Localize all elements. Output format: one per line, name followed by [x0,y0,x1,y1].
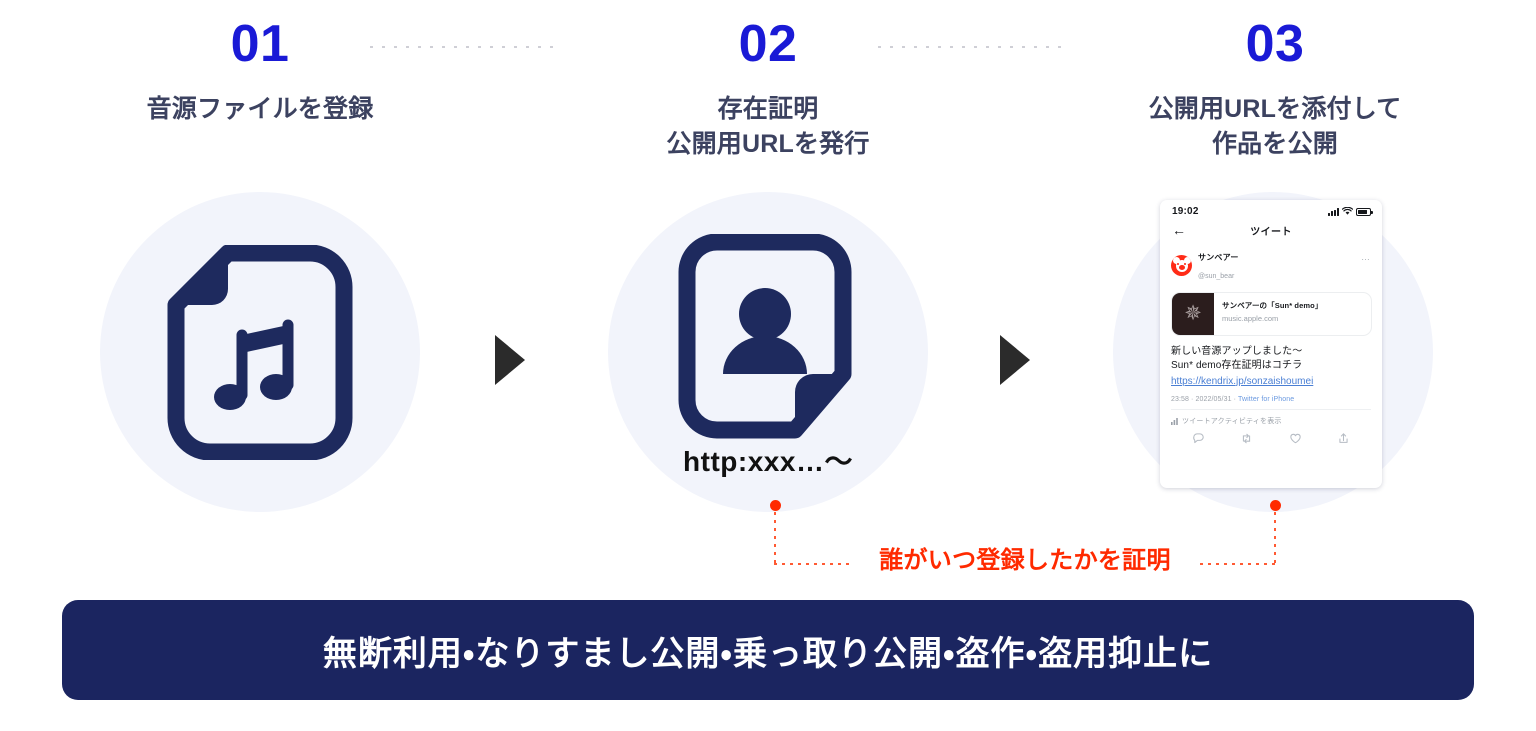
link-card-domain: music.apple.com [1222,314,1322,323]
step-02-url-caption: http:xxx…〜 [608,440,928,480]
tweet-text-line-2: Sun* demo存在証明はコチラ [1171,359,1371,374]
wifi-icon [1342,207,1353,216]
analytics-icon [1171,418,1178,425]
annotation-dot-right [1270,500,1281,511]
arrow-icon-1 [495,335,525,385]
annotation-line-right-horizontal [1200,563,1276,565]
reply-icon[interactable] [1192,432,1205,445]
activity-label: ツイートアクティビティを表示 [1182,416,1282,426]
step-number-03: 03 [1060,18,1490,70]
tweet-author: サンベアー @sun_bear … [1160,245,1382,290]
step-number-02: 02 [553,18,983,70]
battery-icon [1356,208,1371,216]
step-title-line: 音源ファイルを登録 [45,92,475,127]
step-title-line: 公開用URLを発行 [553,127,983,162]
infographic-canvas: 01 音源ファイルを登録 02 存在証明 公開用URLを発行 [0,0,1536,731]
step-title-line: 公開用URLを添付して [1060,92,1490,127]
phone-status-bar: 19:02 [1160,200,1382,219]
step-title-line: 作品を公開 [1060,127,1490,162]
annotation-line-left-vertical [774,512,776,564]
phone-tweet-mockup: 19:02 ← ツイート サンベアー @sun_bear [1160,200,1382,488]
status-icons [1328,207,1371,216]
asterisk-artwork-icon: ✵ [1184,303,1202,324]
tweet-actions [1160,426,1382,453]
avatar[interactable] [1171,255,1192,276]
phone-nav-bar: ← ツイート [1160,219,1382,245]
link-card-title: サンベアーの「Sun* demo」 [1222,300,1322,311]
music-file-icon [150,237,370,467]
nav-title: ツイート [1160,223,1382,238]
signal-icon [1328,208,1339,216]
like-icon[interactable] [1289,432,1302,445]
tweet-body: 新しい音源アップしました〜 Sun* demo存在証明はコチラ https://… [1160,336,1382,427]
arrow-icon-2 [1000,335,1030,385]
more-options-icon[interactable]: … [1361,252,1371,262]
annotation-text: 誰がいつ登録したかを証明 [840,540,1210,575]
step-01: 01 音源ファイルを登録 [45,0,475,127]
share-icon[interactable] [1337,432,1350,445]
tweet-source[interactable]: Twitter for iPhone [1238,396,1294,403]
step-02: 02 存在証明 公開用URLを発行 [553,0,983,161]
step-title-01: 音源ファイルを登録 [45,92,475,127]
footer-banner: 無断利用・なりすまし公開・乗っ取り公開・盗作・盗用抑止に [62,600,1474,700]
author-handle: @sun_bear [1198,273,1234,280]
tweet-activity-row[interactable]: ツイートアクティビティを表示 [1171,409,1371,426]
link-card-thumbnail: ✵ [1172,293,1214,335]
author-name: サンベアー [1198,253,1239,262]
step-title-line: 存在証明 [553,92,983,127]
link-preview-card[interactable]: ✵ サンベアーの「Sun* demo」 music.apple.com [1171,292,1372,336]
tweet-timestamp: 23:58 · 2022/05/31 · [1171,396,1236,403]
tweet-meta: 23:58 · 2022/05/31 · Twitter for iPhone [1171,396,1371,403]
retweet-icon[interactable] [1240,432,1253,445]
step-03: 03 公開用URLを添付して 作品を公開 [1060,0,1490,161]
step-title-03: 公開用URLを添付して 作品を公開 [1060,92,1490,161]
step-title-02: 存在証明 公開用URLを発行 [553,92,983,161]
annotation-dot-left [770,500,781,511]
step-number-01: 01 [45,18,475,70]
tweet-link[interactable]: https://kendrix.jp/sonzaishoumei [1171,375,1371,390]
footer-banner-text: 無断利用・なりすまし公開・乗っ取り公開・盗作・盗用抑止に [323,626,1213,675]
certificate-person-document-icon [660,225,875,447]
annotation-line-right-vertical [1274,512,1276,564]
tweet-text-line-1: 新しい音源アップしました〜 [1171,345,1371,360]
status-time: 19:02 [1172,206,1199,217]
